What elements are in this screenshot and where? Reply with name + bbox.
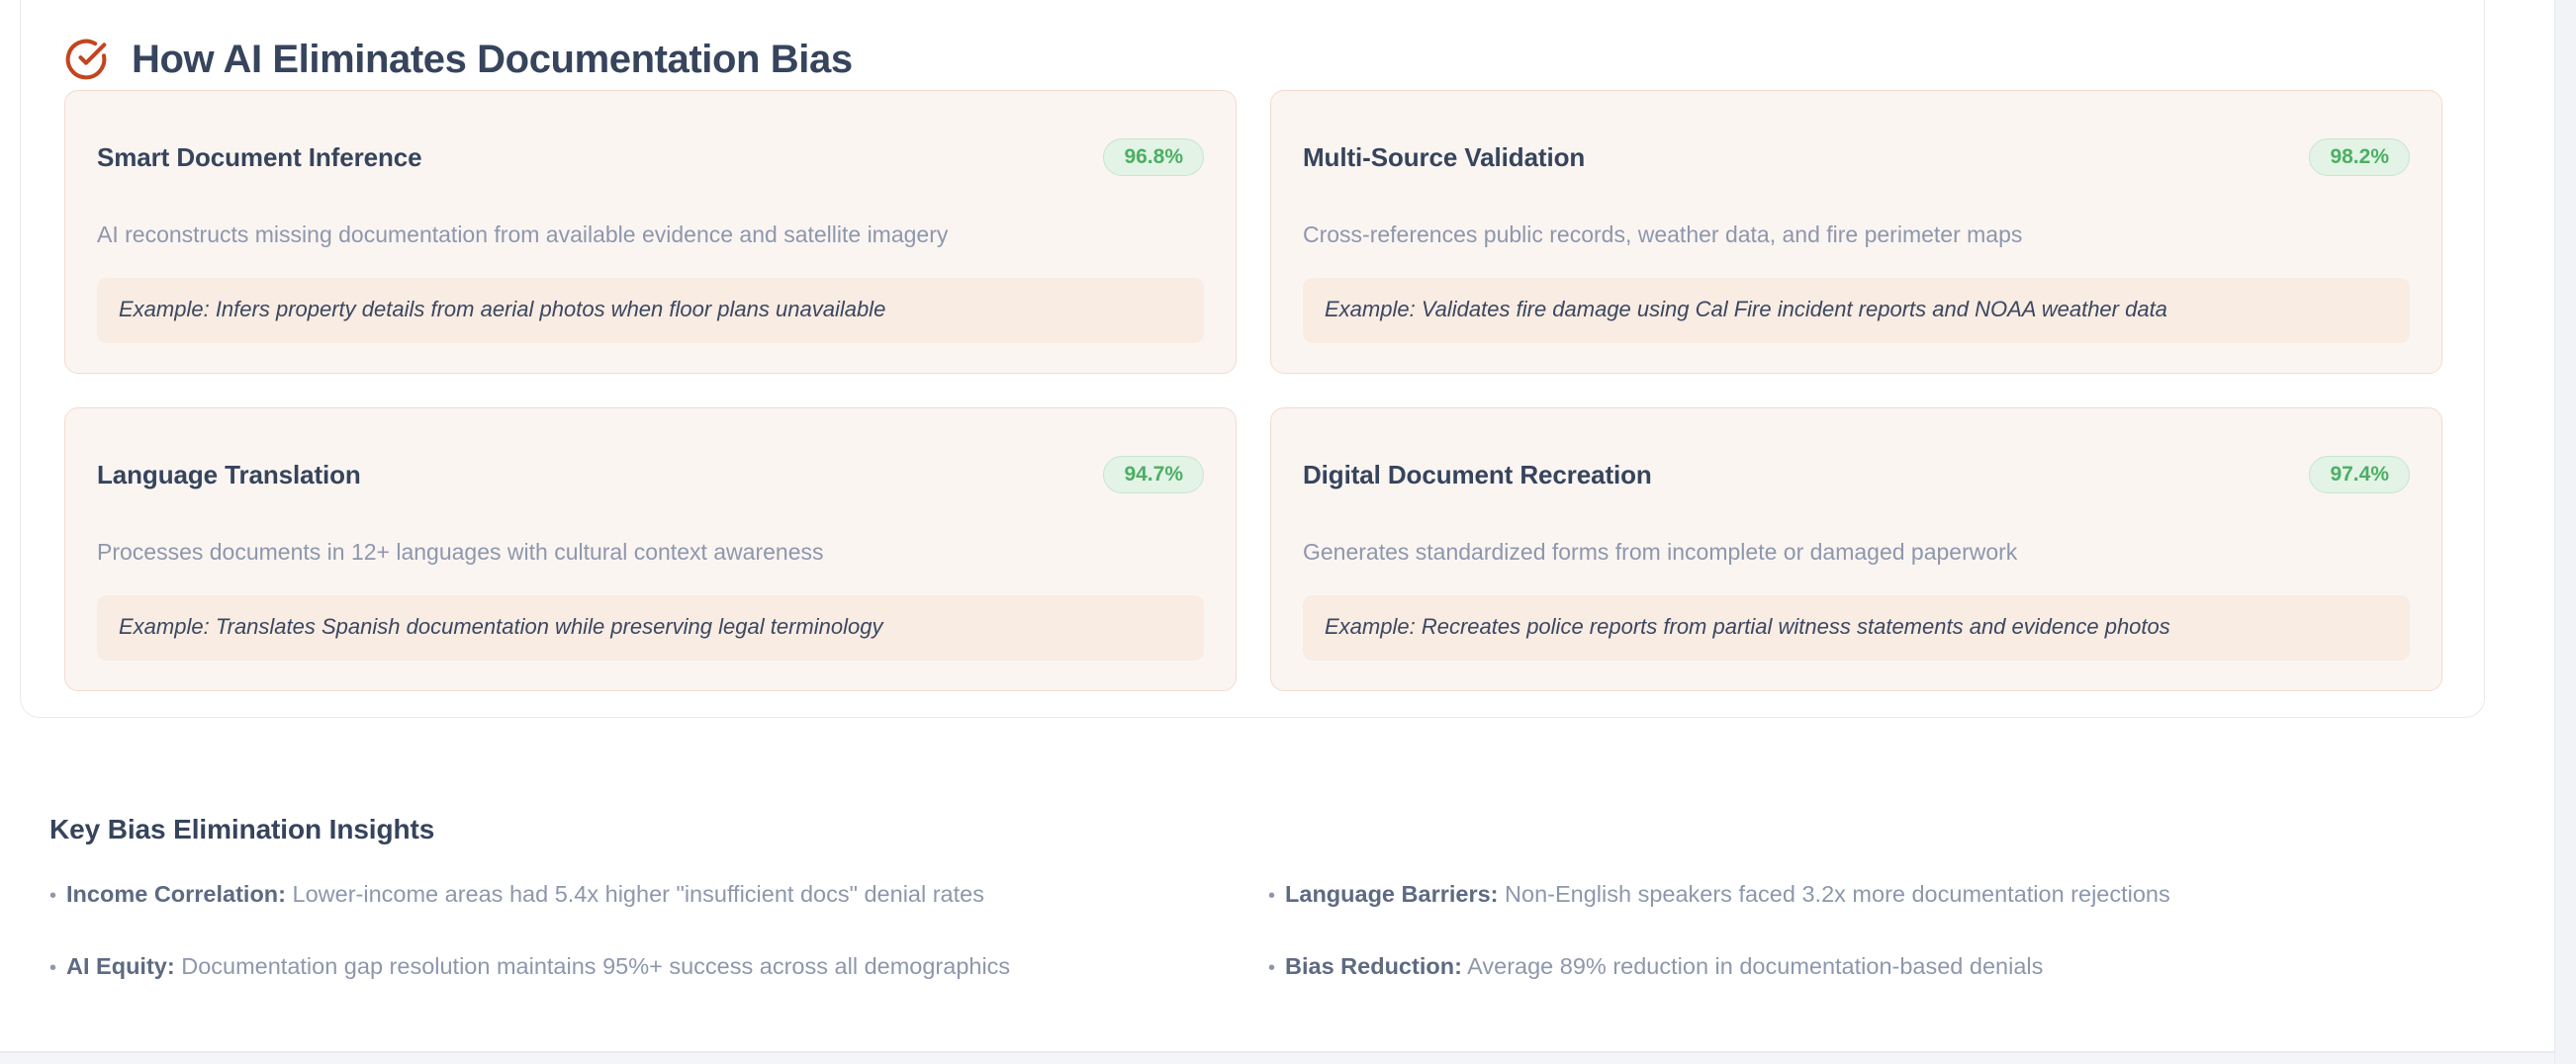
- feature-card[interactable]: Digital Document Recreation 97.4% Genera…: [1270, 407, 2442, 691]
- accuracy-badge: 96.8%: [1103, 138, 1204, 176]
- feature-card[interactable]: Multi-Source Validation 98.2% Cross-refe…: [1270, 90, 2442, 374]
- bullet-icon: •: [49, 883, 56, 909]
- card-header: Digital Document Recreation 97.4%: [1303, 438, 2410, 511]
- page-viewport: How AI Eliminates Documentation Bias Sma…: [0, 0, 2576, 1064]
- card-header: Language Translation 94.7%: [97, 438, 1204, 511]
- insight-label: Bias Reduction:: [1285, 953, 1462, 979]
- bullet-icon: •: [1268, 883, 1275, 909]
- insight-label: AI Equity:: [66, 953, 175, 979]
- card-header: Smart Document Inference 96.8%: [97, 121, 1204, 194]
- insight-value: Documentation gap resolution maintains 9…: [181, 953, 1010, 979]
- feature-cards-grid: Smart Document Inference 96.8% AI recons…: [64, 90, 2442, 691]
- insight-body: Bias Reduction: Average 89% reduction in…: [1285, 951, 2043, 982]
- insight-value: Non-English speakers faced 3.2x more doc…: [1505, 881, 2170, 907]
- page-title: How AI Eliminates Documentation Bias: [132, 40, 853, 79]
- card-example: Example: Infers property details from ae…: [97, 278, 1204, 343]
- feature-card[interactable]: Language Translation 94.7% Processes doc…: [64, 407, 1237, 691]
- insight-item: • Bias Reduction: Average 89% reduction …: [1268, 951, 2443, 982]
- insight-item: • AI Equity: Documentation gap resolutio…: [49, 951, 1225, 982]
- insight-label: Language Barriers:: [1285, 881, 1498, 907]
- card-title: Digital Document Recreation: [1303, 460, 1652, 490]
- card-title: Language Translation: [97, 460, 361, 490]
- insights-title: Key Bias Elimination Insights: [49, 814, 2443, 845]
- accuracy-badge: 94.7%: [1103, 456, 1204, 493]
- circle-check-icon: [64, 38, 108, 81]
- card-title: Multi-Source Validation: [1303, 142, 1585, 173]
- card-header: Multi-Source Validation 98.2%: [1303, 121, 2410, 194]
- vertical-scrollbar[interactable]: [2554, 0, 2576, 1064]
- card-description: Cross-references public records, weather…: [1303, 220, 2410, 250]
- insight-value: Average 89% reduction in documentation-b…: [1467, 953, 2043, 979]
- card-description: Processes documents in 12+ languages wit…: [97, 537, 1204, 568]
- insight-body: AI Equity: Documentation gap resolution …: [66, 951, 1010, 982]
- card-example: Example: Validates fire damage using Cal…: [1303, 278, 2410, 343]
- card-description: AI reconstructs missing documentation fr…: [97, 220, 1204, 250]
- insight-label: Income Correlation:: [66, 881, 286, 907]
- feature-card[interactable]: Smart Document Inference 96.8% AI recons…: [64, 90, 1237, 374]
- card-example: Example: Recreates police reports from p…: [1303, 595, 2410, 661]
- insight-body: Language Barriers: Non-English speakers …: [1285, 879, 2170, 910]
- insight-item: • Income Correlation: Lower-income areas…: [49, 879, 1225, 910]
- bullet-icon: •: [49, 955, 56, 981]
- insight-value: Lower-income areas had 5.4x higher "insu…: [293, 881, 984, 907]
- insight-body: Income Correlation: Lower-income areas h…: [66, 879, 984, 910]
- bullet-icon: •: [1268, 955, 1275, 981]
- insight-item: • Language Barriers: Non-English speaker…: [1268, 879, 2443, 910]
- insights-grid: • Income Correlation: Lower-income areas…: [49, 879, 2443, 981]
- accuracy-badge: 98.2%: [2309, 138, 2410, 176]
- card-description: Generates standardized forms from incomp…: [1303, 537, 2410, 568]
- key-insights-section: Key Bias Elimination Insights • Income C…: [49, 791, 2443, 981]
- page-bottom-strip: [0, 1053, 2554, 1064]
- accuracy-badge: 97.4%: [2309, 456, 2410, 493]
- documentation-bias-panel: How AI Eliminates Documentation Bias Sma…: [20, 0, 2485, 718]
- card-example: Example: Translates Spanish documentatio…: [97, 595, 1204, 661]
- card-title: Smart Document Inference: [97, 142, 421, 173]
